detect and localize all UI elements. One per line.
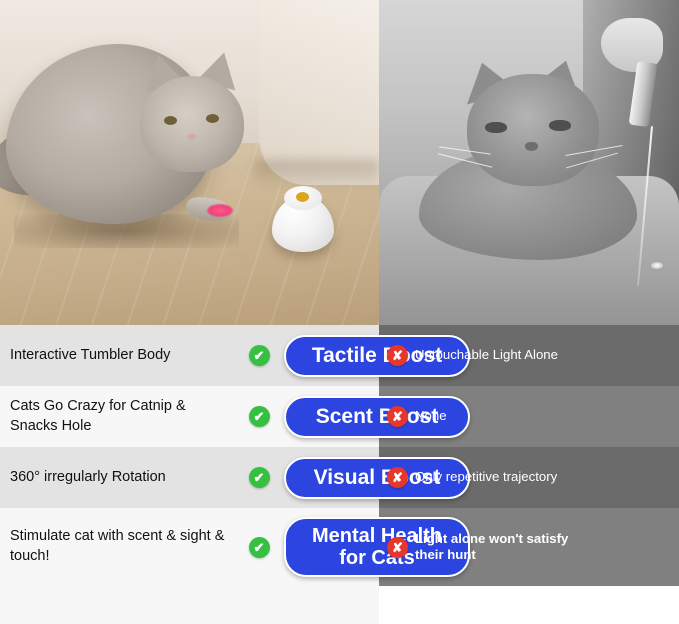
footer-left-fill (0, 586, 379, 624)
cat-watching-laser-pointer-photo (379, 0, 679, 325)
check-circle-icon: ✔ (249, 406, 270, 427)
sofa-corner (259, 0, 379, 185)
check-circle-icon: ✔ (249, 537, 270, 558)
cat-eye-right (549, 120, 571, 131)
laser-spot (651, 262, 663, 269)
table-row: Stimulate cat with scent & sight & touch… (0, 508, 679, 586)
check-cell: ✔ (240, 508, 278, 586)
badge-cell: Tactile Boost (278, 325, 379, 386)
drawback-label: Only repetitive trajectory (415, 469, 557, 486)
cat-head (140, 76, 244, 172)
cross-circle-icon: ✘ (387, 467, 408, 488)
laser-dot (207, 204, 233, 217)
table-row: Interactive Tumbler Body ✔ Tactile Boost… (0, 325, 679, 386)
cross-circle-icon: ✘ (387, 537, 408, 558)
feature-label: Stimulate cat with scent & sight & touch… (0, 508, 240, 586)
feature-label: 360° irregularly Rotation (0, 447, 240, 508)
cat-playing-with-tumbler-toy-photo (0, 0, 379, 325)
table-row: Cats Go Crazy for Catnip & Snacks Hole ✔… (0, 386, 679, 447)
check-cell: ✔ (240, 325, 278, 386)
check-cell: ✔ (240, 447, 278, 508)
cross-circle-icon: ✘ (387, 406, 408, 427)
badge-cell: Scent Boost (278, 386, 379, 447)
cross-circle-icon: ✘ (387, 345, 408, 366)
feature-comparison-table: Interactive Tumbler Body ✔ Tactile Boost… (0, 325, 679, 624)
drawback-cell: ✘ None (379, 386, 679, 447)
product-comparison-infographic: Interactive Tumbler Body ✔ Tactile Boost… (0, 0, 679, 624)
table-row: 360° irregularly Rotation ✔ Visual Boost… (0, 447, 679, 508)
footer-strip (0, 586, 679, 624)
check-circle-icon: ✔ (249, 345, 270, 366)
drawback-line-1: Light alone won't satisfy (415, 531, 568, 546)
footer-right-fill (379, 586, 679, 624)
badge-cell: Mental Health for Cats (278, 508, 379, 586)
feature-label: Interactive Tumbler Body (0, 325, 240, 386)
drawback-line-2: their hunt (415, 547, 476, 562)
cat-nose (525, 142, 538, 151)
check-circle-icon: ✔ (249, 467, 270, 488)
feature-label: Cats Go Crazy for Catnip & Snacks Hole (0, 386, 240, 447)
photo-strip (0, 0, 679, 325)
cat-eye-left (164, 116, 177, 125)
drawback-label: Untouchable Light Alone (415, 347, 558, 364)
badge-cell: Visual Boost (278, 447, 379, 508)
cat-eye-right (206, 114, 219, 123)
drawback-cell: ✘ Light alone won't satisfy their hunt (379, 508, 679, 586)
tumbler-toy-light (296, 192, 309, 202)
cat-eye-left (485, 122, 507, 133)
drawback-label: None (415, 408, 447, 425)
drawback-label: Light alone won't satisfy their hunt (415, 531, 568, 564)
check-cell: ✔ (240, 386, 278, 447)
cat-nose (187, 134, 196, 140)
drawback-cell: ✘ Only repetitive trajectory (379, 447, 679, 508)
drawback-cell: ✘ Untouchable Light Alone (379, 325, 679, 386)
sofa-shadow (254, 160, 379, 190)
